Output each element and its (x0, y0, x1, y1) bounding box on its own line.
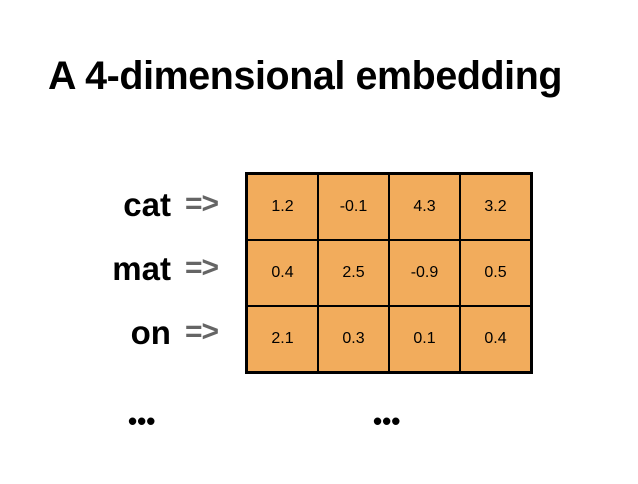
word-label-row-mat: mat => (0, 236, 222, 300)
word-label-row-cat: cat => (0, 172, 222, 236)
matrix-cell: 2.5 (318, 240, 389, 306)
continuation-ellipsis-left: ••• (128, 408, 155, 434)
maps-to-arrow-icon-on: => (185, 317, 218, 347)
page-title: A 4-dimensional embedding (48, 52, 600, 100)
matrix-cell: 1.2 (247, 174, 319, 241)
table-row: 1.2 -0.1 4.3 3.2 (247, 174, 532, 241)
matrix-cell: 0.4 (247, 240, 319, 306)
word-label-column: cat => mat => on => (0, 172, 222, 364)
embedding-diagram: cat => mat => on => 1.2 -0.1 4.3 3.2 (0, 172, 638, 364)
embedding-matrix: 1.2 -0.1 4.3 3.2 0.4 2.5 -0.9 0.5 2.1 0.… (245, 172, 533, 374)
matrix-cell: -0.1 (318, 174, 389, 241)
maps-to-arrow-icon-cat: => (185, 189, 218, 219)
word-label-on: on (131, 316, 171, 349)
matrix-cell: 0.4 (460, 306, 532, 373)
matrix-cell: 2.1 (247, 306, 319, 373)
word-label-cat: cat (123, 188, 171, 221)
matrix-cell: 4.3 (389, 174, 460, 241)
matrix-cell: 0.1 (389, 306, 460, 373)
word-label-row-on: on => (0, 300, 222, 364)
matrix-cell: -0.9 (389, 240, 460, 306)
maps-to-arrow-icon-mat: => (185, 253, 218, 283)
table-row: 0.4 2.5 -0.9 0.5 (247, 240, 532, 306)
table-row: 2.1 0.3 0.1 0.4 (247, 306, 532, 373)
slide-canvas: A 4-dimensional embedding cat => mat => … (0, 0, 638, 484)
continuation-ellipsis-right: ••• (373, 408, 400, 434)
matrix-cell: 3.2 (460, 174, 532, 241)
matrix-cell: 0.5 (460, 240, 532, 306)
matrix-cell: 0.3 (318, 306, 389, 373)
word-label-mat: mat (112, 252, 171, 285)
